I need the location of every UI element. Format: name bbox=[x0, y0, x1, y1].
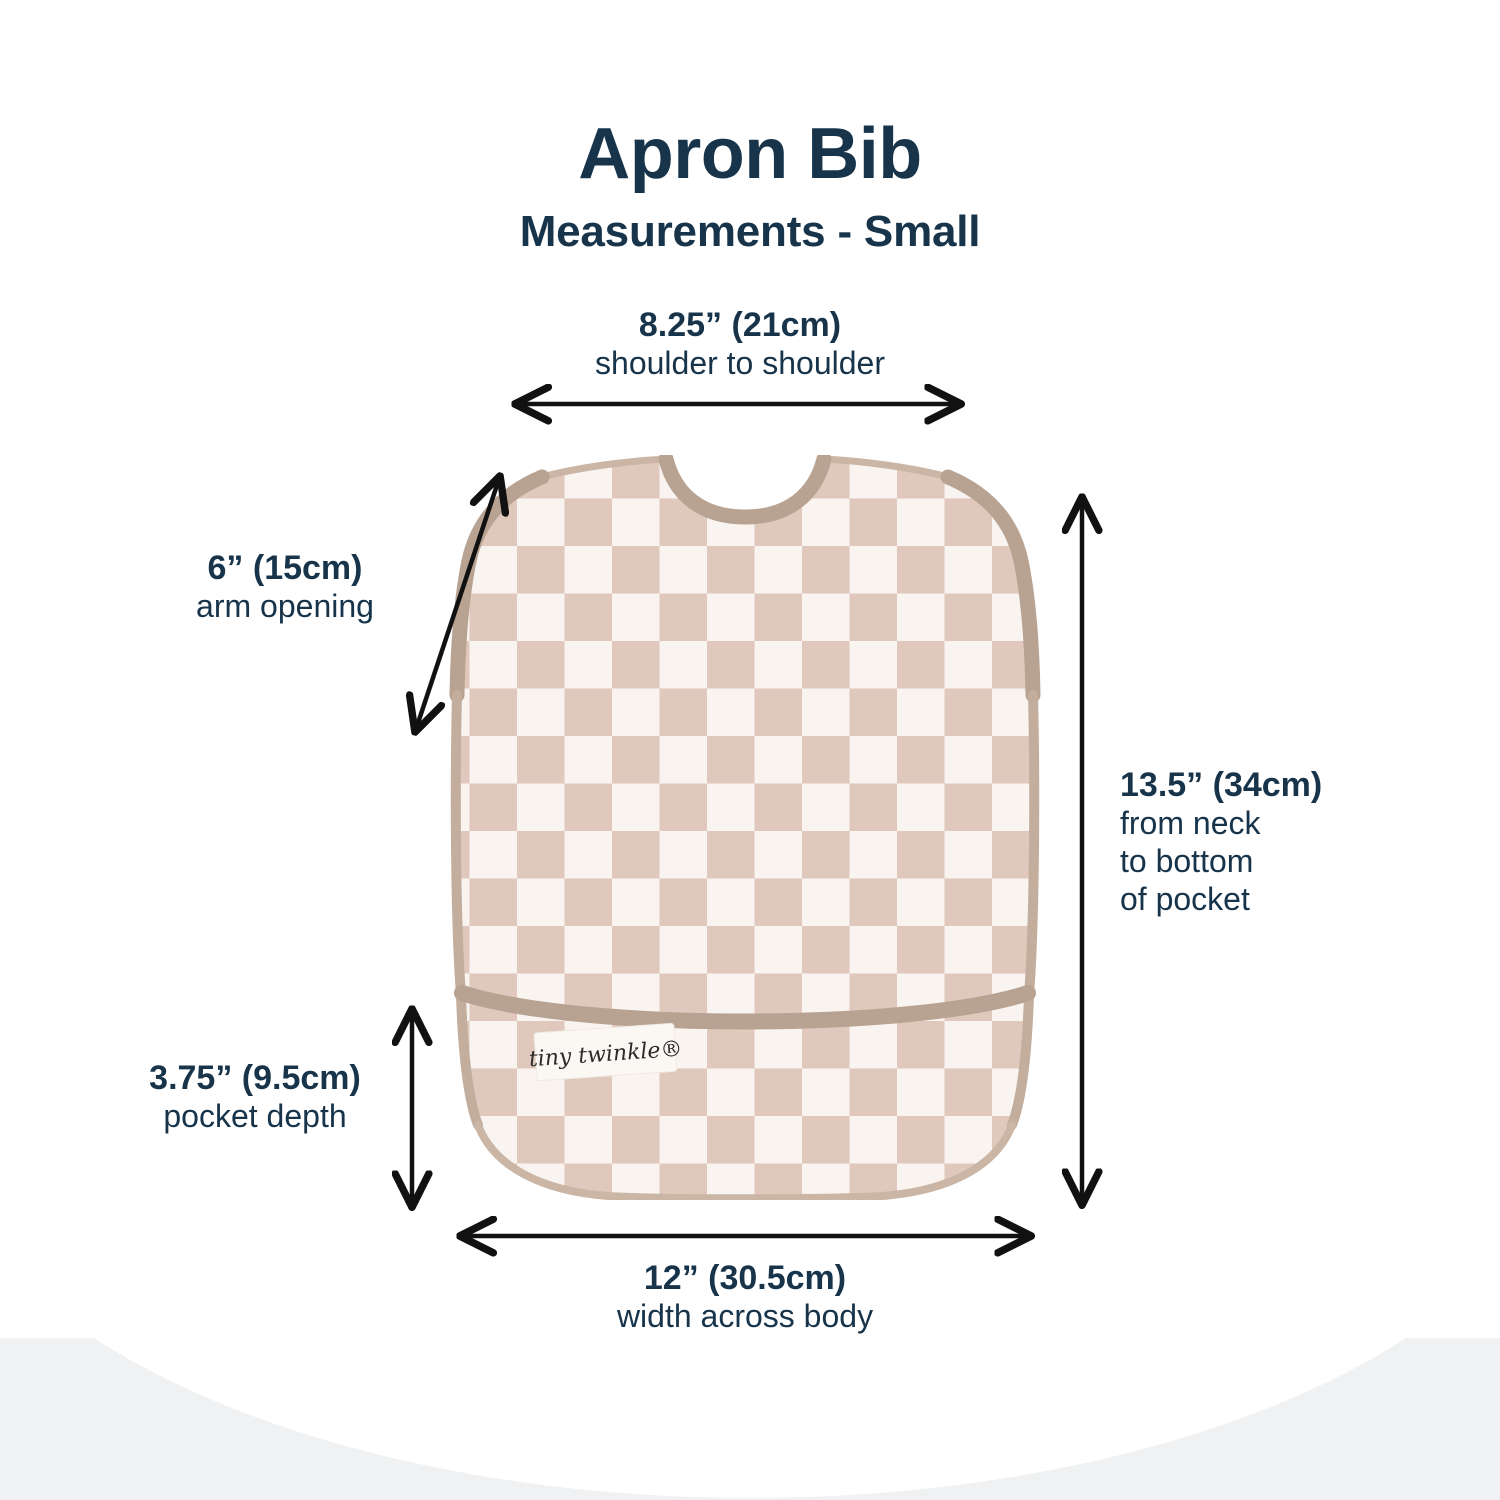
label-shoulder-description: shoulder to shoulder bbox=[490, 345, 990, 383]
label-pocket-depth: 3.75” (9.5cm) pocket depth bbox=[105, 1058, 405, 1136]
label-neck-value: 13.5” (34cm) bbox=[1120, 765, 1450, 805]
label-neck-description-line2: to bottom bbox=[1120, 843, 1450, 881]
label-pocket-description: pocket depth bbox=[105, 1098, 405, 1136]
label-neck-description-line3: of pocket bbox=[1120, 881, 1450, 919]
page-subtitle: Measurements - Small bbox=[0, 210, 1500, 254]
label-pocket-value: 3.75” (9.5cm) bbox=[105, 1058, 405, 1098]
footer-band bbox=[0, 1338, 1500, 1500]
label-arm-description: arm opening bbox=[120, 588, 450, 626]
label-width-value: 12” (30.5cm) bbox=[495, 1258, 995, 1298]
label-shoulder-value: 8.25” (21cm) bbox=[490, 305, 990, 345]
label-neck-description-line1: from neck bbox=[1120, 805, 1450, 843]
label-arm-opening: 6” (15cm) arm opening bbox=[120, 548, 450, 626]
bib-graphic: tiny twinkle® bbox=[430, 455, 1060, 1200]
neckline-binding bbox=[666, 459, 824, 517]
label-width-description: width across body bbox=[495, 1298, 995, 1336]
page-title: Apron Bib bbox=[0, 118, 1500, 190]
bib-body bbox=[430, 455, 1060, 1055]
label-shoulder-to-shoulder: 8.25” (21cm) shoulder to shoulder bbox=[490, 305, 990, 383]
diagram-canvas: Apron Bib Measurements - Small bbox=[0, 0, 1500, 1500]
footer-arc-shape bbox=[0, 1338, 1500, 1498]
label-width-across-body: 12” (30.5cm) width across body bbox=[495, 1258, 995, 1336]
brand-tag: tiny twinkle® bbox=[527, 1023, 684, 1082]
label-arm-value: 6” (15cm) bbox=[120, 548, 450, 588]
label-neck-to-pocket: 13.5” (34cm) from neck to bottom of pock… bbox=[1120, 765, 1450, 918]
apron-bib-illustration: tiny twinkle® bbox=[430, 455, 1060, 1200]
